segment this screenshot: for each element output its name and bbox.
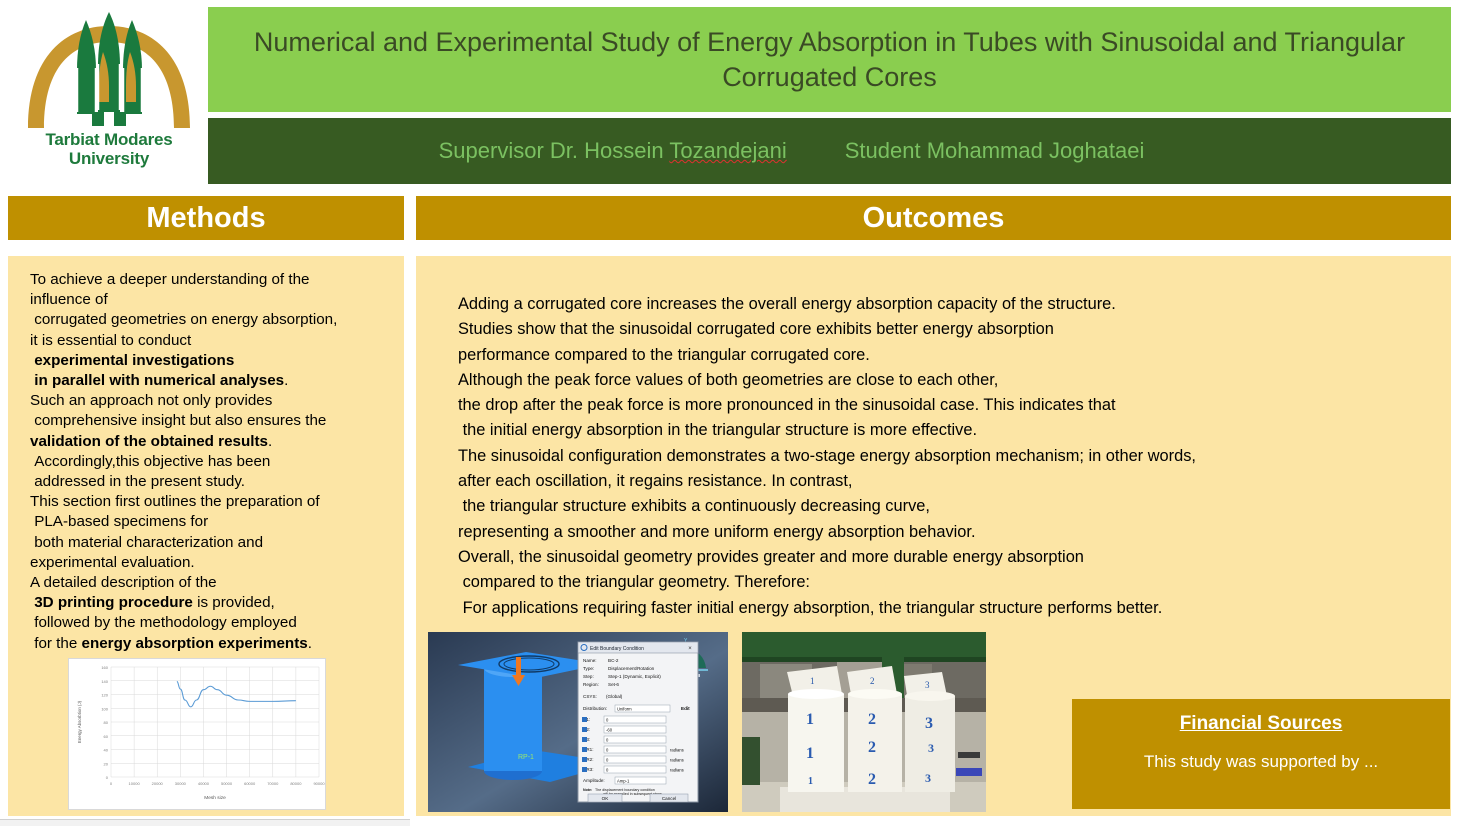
svg-text:10000: 10000 <box>129 781 141 786</box>
svg-text:BC-2: BC-2 <box>608 658 619 663</box>
outcomes-title: Outcomes <box>863 202 1005 235</box>
abaqus-ok-button: OK <box>602 796 610 801</box>
supervisor-label: Supervisor Dr. Hossein Tozandejani <box>439 138 787 164</box>
specimen-photo-svg: 1 2 3 111 222 333 <box>742 632 986 812</box>
supervisor-prefix: Supervisor Dr. Hossein <box>439 138 670 163</box>
svg-text:Amp-1: Amp-1 <box>617 779 630 784</box>
svg-text:Type:: Type: <box>583 666 594 671</box>
svg-text:Step-1 (Dynamic, Explicit): Step-1 (Dynamic, Explicit) <box>608 674 661 679</box>
svg-text:Edit: Edit <box>681 706 690 711</box>
page-title: Numerical and Experimental Study of Ener… <box>236 25 1423 95</box>
svg-text:80000: 80000 <box>290 781 302 786</box>
svg-text:Step:: Step: <box>583 674 594 679</box>
svg-text:Region:: Region: <box>583 682 599 687</box>
svg-text:1: 1 <box>810 676 815 686</box>
svg-text:-60: -60 <box>606 728 613 733</box>
abaqus-close-icon: × <box>688 646 692 652</box>
poster-title-band: Numerical and Experimental Study of Ener… <box>208 7 1451 112</box>
abaqus-simulation-image: RP-1 Y Z Edit Boundary Condition × Name:… <box>428 632 728 812</box>
methods-text-run: . <box>308 635 312 652</box>
svg-text:1: 1 <box>806 745 814 762</box>
svg-text:50000: 50000 <box>221 781 233 786</box>
svg-text:CSYS:: CSYS: <box>583 694 597 699</box>
svg-text:3: 3 <box>925 771 931 785</box>
svg-text:90000: 90000 <box>313 781 325 786</box>
mesh-convergence-chart-svg: 0204060801001201401600100002000030000400… <box>69 659 325 809</box>
svg-text:radians: radians <box>670 758 684 763</box>
svg-text:100: 100 <box>101 706 108 711</box>
svg-text:0: 0 <box>106 775 109 780</box>
svg-text:140: 140 <box>101 679 108 684</box>
svg-text:3: 3 <box>925 680 930 690</box>
svg-text:120: 120 <box>101 693 108 698</box>
abaqus-simulation-svg: RP-1 Y Z Edit Boundary Condition × Name:… <box>428 632 728 812</box>
outcomes-body-text: Adding a corrugated core increases the o… <box>458 292 1438 621</box>
svg-text:1: 1 <box>806 711 814 728</box>
financial-sources-body: This study was supported by ... <box>1082 752 1440 772</box>
svg-text:radians: radians <box>670 748 684 753</box>
svg-text:Energy Absorbtion (J): Energy Absorbtion (J) <box>77 700 82 743</box>
svg-text:Set-6: Set-6 <box>608 682 619 687</box>
svg-text:20000: 20000 <box>152 781 164 786</box>
part-reference-label: RP-1 <box>518 754 534 761</box>
methods-bold-run: energy absorption experiments <box>82 635 308 652</box>
logo-line-2: University <box>14 149 204 168</box>
methods-bold-run: validation of the obtained results <box>30 433 268 450</box>
financial-sources-title: Financial Sources <box>1082 713 1440 735</box>
svg-text:Uniform: Uniform <box>617 707 632 712</box>
svg-text:Displacement/Rotation: Displacement/Rotation <box>608 666 655 671</box>
svg-text:Mesh size: Mesh size <box>204 795 226 801</box>
university-logo-text: Tarbiat Modares University <box>14 130 204 168</box>
abaqus-cancel-button: Cancel <box>662 796 676 801</box>
svg-text:2: 2 <box>868 711 876 728</box>
svg-text:3: 3 <box>925 715 933 732</box>
svg-text:(Global): (Global) <box>606 694 623 699</box>
svg-text:70000: 70000 <box>267 781 279 786</box>
financial-sources-box: Financial Sources This study was support… <box>1072 699 1450 809</box>
university-logo: Tarbiat Modares University <box>14 4 204 182</box>
mesh-convergence-chart: 0204060801001201401600100002000030000400… <box>68 658 326 810</box>
methods-bold-run: 3D printing procedure <box>34 594 193 611</box>
svg-text:Amplitude:: Amplitude: <box>583 778 605 783</box>
svg-text:3: 3 <box>928 741 934 755</box>
methods-body-text: To achieve a deeper understanding of the… <box>30 270 388 654</box>
svg-text:Distribution:: Distribution: <box>583 706 607 711</box>
specimen-photo-image: 1 2 3 111 222 333 <box>742 632 986 812</box>
svg-text:40: 40 <box>104 748 109 753</box>
student-label: Student Mohammad Joghataei <box>845 138 1145 164</box>
svg-text:2: 2 <box>870 676 875 686</box>
logo-line-1: Tarbiat Modares <box>14 130 204 149</box>
supervisor-name: Tozandejani <box>669 138 786 163</box>
svg-text:20: 20 <box>104 761 109 766</box>
svg-text:2: 2 <box>868 739 876 756</box>
svg-text:80: 80 <box>104 720 109 725</box>
svg-text:Name:: Name: <box>583 658 597 663</box>
poster-authors-band: Supervisor Dr. Hossein Tozandejani Stude… <box>208 118 1451 184</box>
university-logo-icon <box>14 4 204 132</box>
svg-text:60: 60 <box>104 734 109 739</box>
svg-text:40000: 40000 <box>198 781 210 786</box>
svg-text:Note:: Note: <box>583 788 592 792</box>
section-header-methods: Methods <box>8 196 404 240</box>
section-header-outcomes: Outcomes <box>416 196 1451 240</box>
svg-text:30000: 30000 <box>175 781 187 786</box>
methods-title: Methods <box>146 202 265 235</box>
abaqus-dialog-title: Edit Boundary Condition <box>590 646 644 652</box>
methods-bold-run: experimental investigations in parallel … <box>30 352 284 389</box>
svg-text:2: 2 <box>868 771 876 788</box>
svg-text:160: 160 <box>101 665 108 670</box>
svg-text:0: 0 <box>110 781 113 786</box>
svg-text:1: 1 <box>808 776 813 787</box>
poster-header: Tarbiat Modares University Numerical and… <box>0 0 1458 186</box>
methods-text-run: . Accordingly,this objective has been ad… <box>30 433 320 612</box>
svg-text:60000: 60000 <box>244 781 256 786</box>
svg-text:radians: radians <box>670 768 684 773</box>
